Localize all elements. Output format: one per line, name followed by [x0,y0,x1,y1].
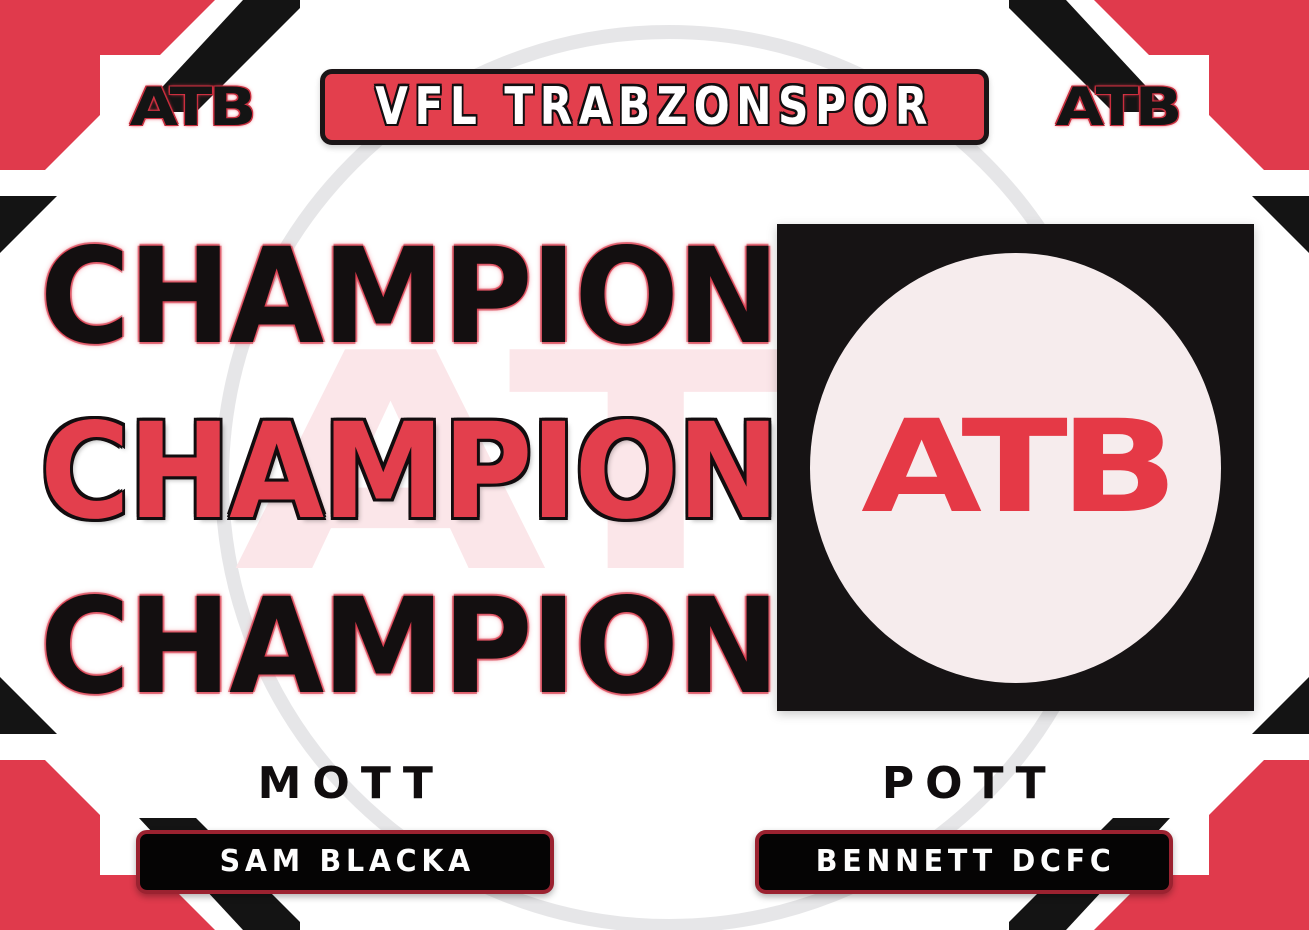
champions-line-3: CHAMPIONS! [40,560,635,735]
awards-footer: MOTT SAM BLACKA POTT BENNETT DCFC [36,724,1273,894]
award-label-pott: POTT [871,762,1057,806]
main-area: CHAMPIONS! CHAMPIONS! CHAMPIONS! ATB [36,182,1273,702]
award-label-mott: MOTT [247,762,444,806]
header-row: ATB VFL TRABZONSPOR ATB [36,64,1273,150]
crest-atb-wordmark: ATB [861,404,1170,532]
player-name-pott: BENNETT DCFC [812,847,1116,877]
club-crest: ATB [777,224,1254,711]
name-plate-mott: SAM BLACKA [136,830,554,894]
champions-poster: ATB ATB [0,0,1309,930]
champions-headline: CHAMPIONS! CHAMPIONS! CHAMPIONS! [40,210,680,735]
award-mott: MOTT SAM BLACKA [110,762,580,894]
card-body: ATB VFL TRABZONSPOR ATB CHAMPIONS! CHAMP… [36,32,1273,894]
award-pott: POTT BENNETT DCFC [729,762,1199,894]
crest-disc: ATB [810,253,1221,683]
champions-line-2: CHAMPIONS! [40,385,635,560]
player-name-mott: SAM BLACKA [216,847,475,877]
title-banner: VFL TRABZONSPOR [320,69,989,145]
name-plate-pott: BENNETT DCFC [755,830,1173,894]
atb-logo-left-icon: ATB [130,81,253,134]
champions-line-1: CHAMPIONS! [40,210,635,385]
club-title: VFL TRABZONSPOR [375,80,934,132]
atb-logo-right-icon: ATB [1056,81,1179,134]
